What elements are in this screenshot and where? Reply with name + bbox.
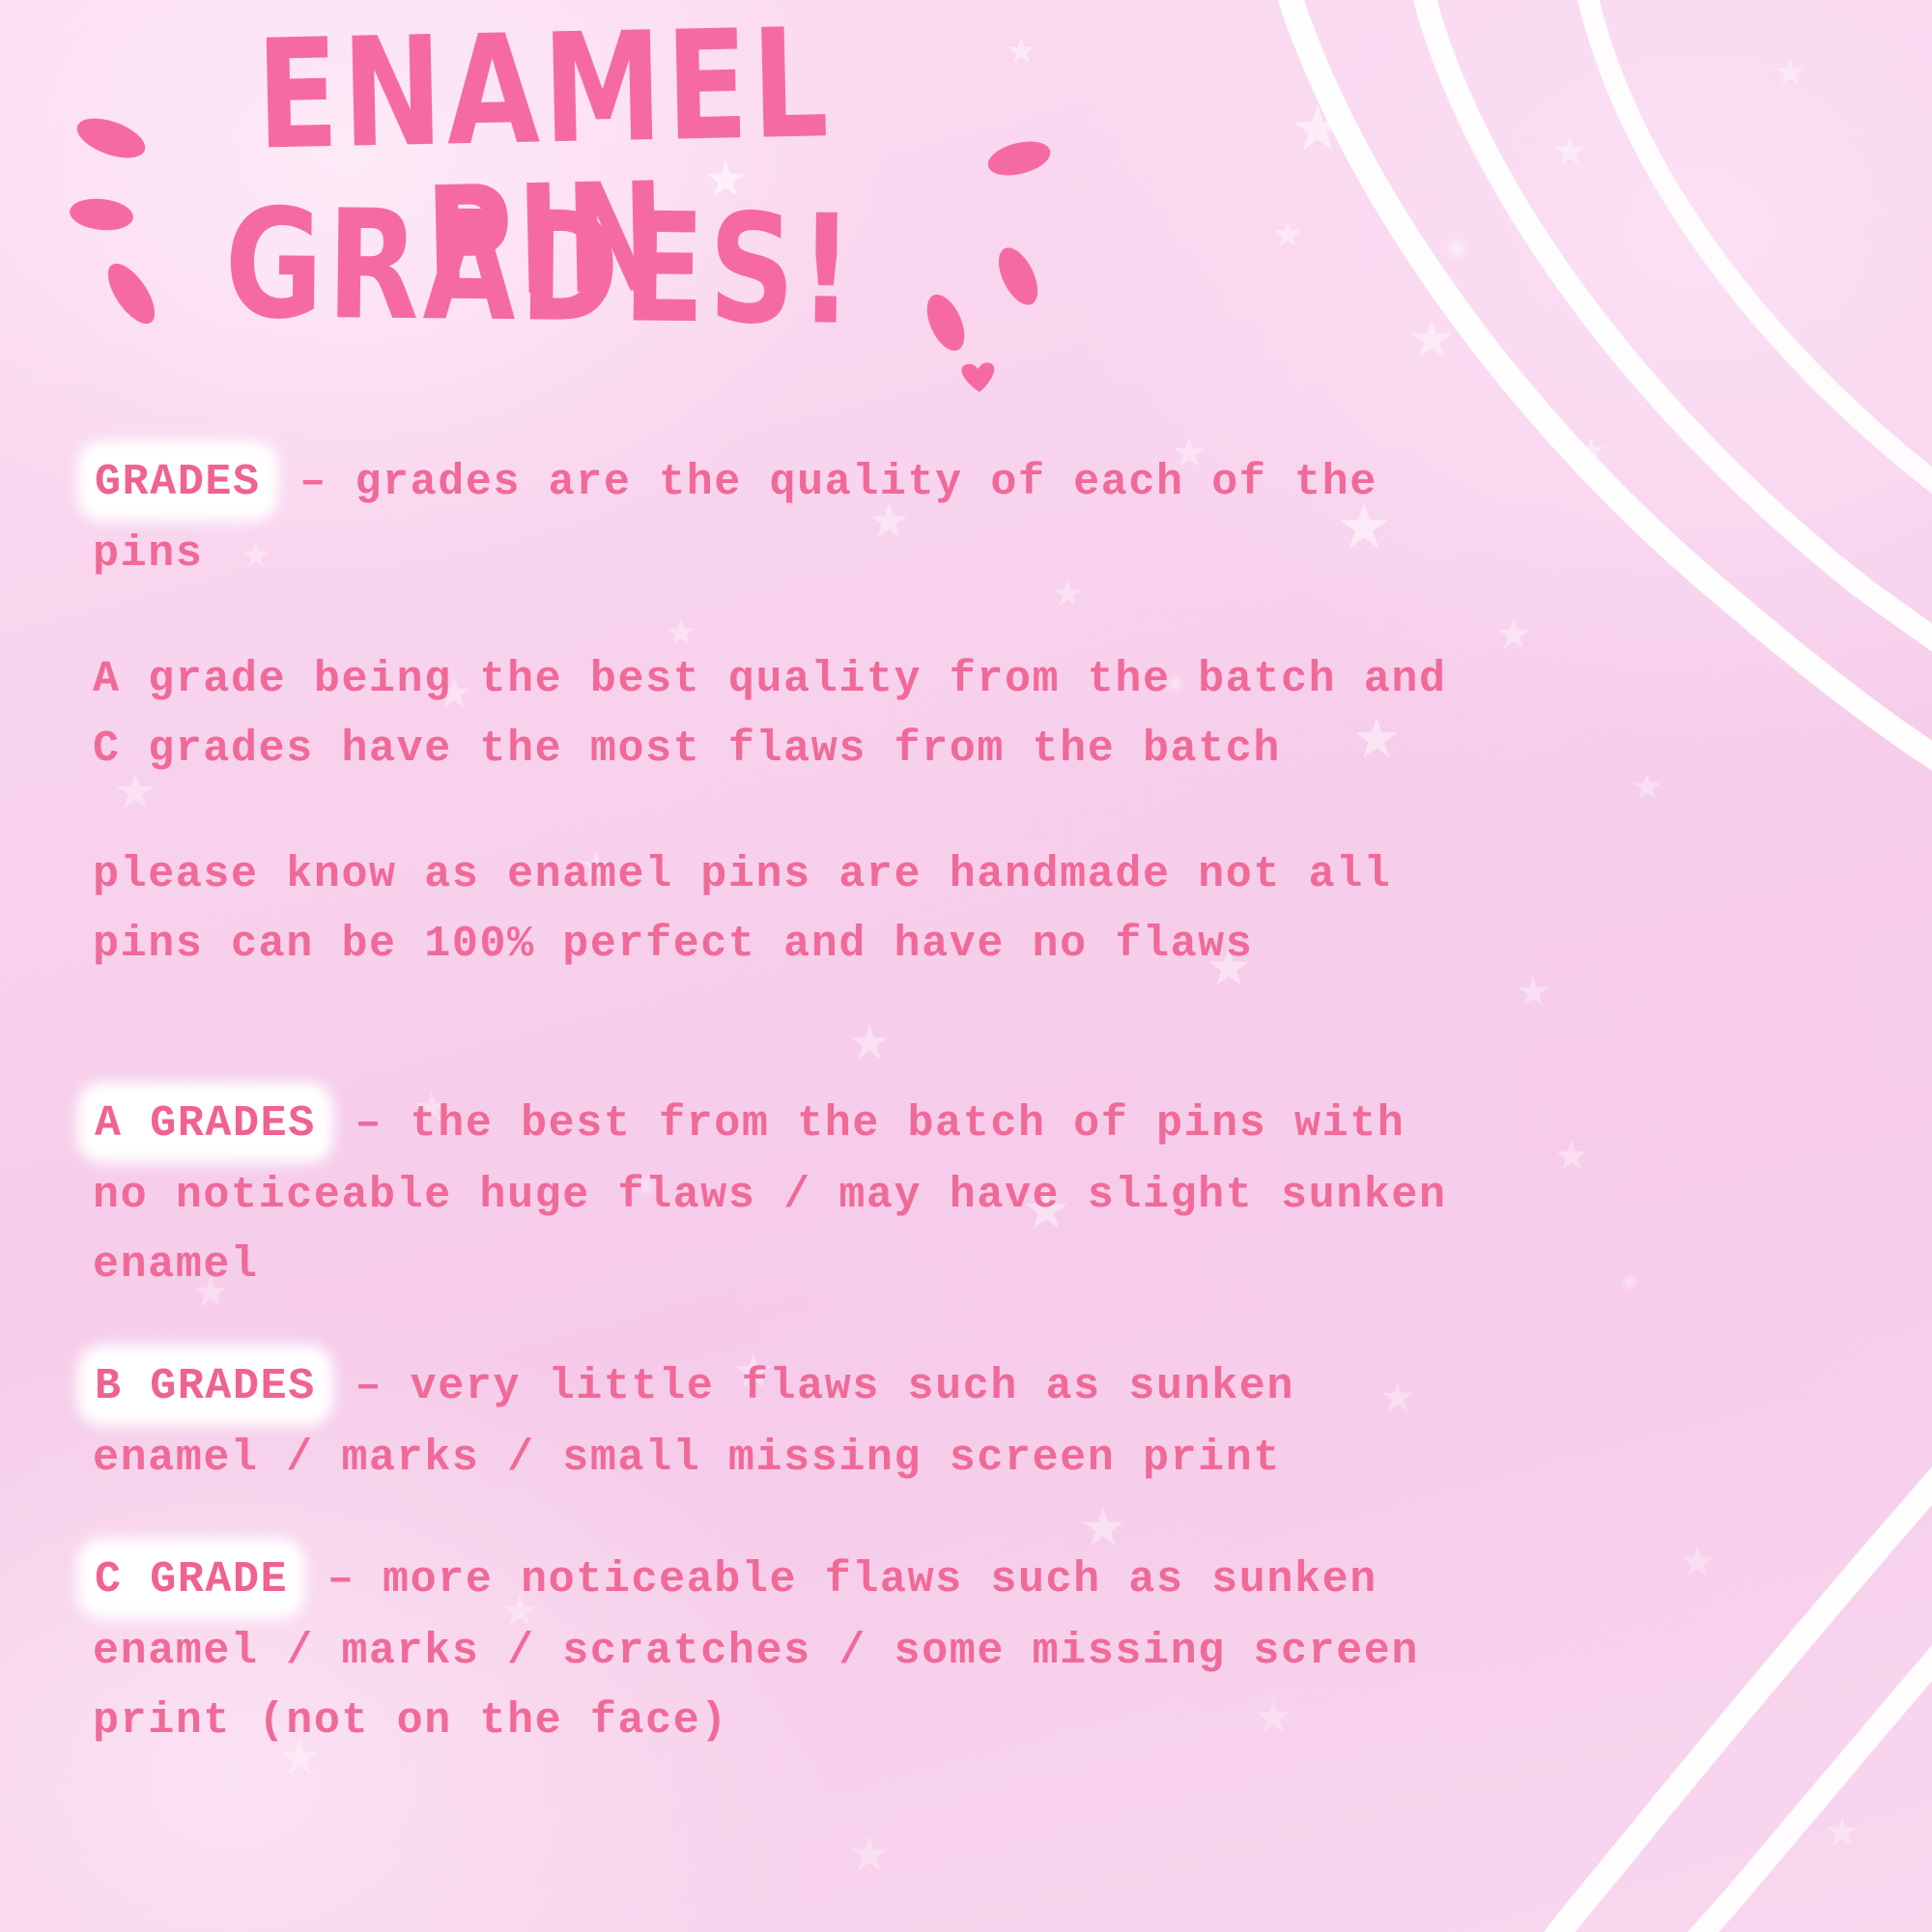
spacer xyxy=(93,589,1861,645)
paragraph-c-grade: C GRADE – more noticeable flaws such as … xyxy=(93,1544,1861,1756)
background-star-icon xyxy=(1273,220,1302,249)
background-sparkle-dot-icon xyxy=(1449,241,1464,257)
sparkle-dash-decoration xyxy=(991,241,1046,311)
paragraph-b-grades: B GRADES – very little flaws such as sun… xyxy=(93,1350,1861,1493)
poster-canvas: ENAMEL PIN GRADES! GRADES – grades are t… xyxy=(0,0,1932,1932)
label-a-grades: A GRADES xyxy=(83,1088,327,1161)
spacer xyxy=(93,1493,1861,1544)
heart-icon xyxy=(961,362,996,393)
background-star-icon xyxy=(1553,135,1586,168)
background-star-icon xyxy=(850,1835,889,1874)
sparkle-dash-decoration xyxy=(99,256,164,331)
spacer xyxy=(93,784,1861,840)
paragraph-grades-intro: GRADES – grades are the quality of each … xyxy=(93,446,1861,589)
background-star-icon xyxy=(1776,58,1804,87)
poster-body-block: GRADES – grades are the quality of each … xyxy=(93,446,1861,1756)
label-b-grades: B GRADES xyxy=(83,1350,327,1424)
sparkle-dash-decoration xyxy=(69,196,135,234)
sparkle-dash-decoration xyxy=(71,110,150,165)
page-title-line-2: GRADES! xyxy=(213,189,870,347)
spacer xyxy=(93,1300,1861,1350)
spacer xyxy=(93,980,1861,1088)
poster-title-block: ENAMEL PIN GRADES! xyxy=(0,17,1082,355)
background-star-icon xyxy=(1410,319,1453,361)
sparkle-dash-decoration xyxy=(984,135,1054,181)
paragraph-grades-intro-text: – grades are the quality of each of the … xyxy=(93,458,1378,579)
paragraph-a-vs-c: A grade being the best quality from the … xyxy=(93,645,1861,784)
paragraph-a-grades: A GRADES – the best from the batch of pi… xyxy=(93,1088,1861,1300)
label-c-grade: C GRADE xyxy=(83,1544,299,1617)
background-star-icon xyxy=(1293,104,1343,155)
paragraph-handmade-notice: please know as enamel pins are handmade … xyxy=(93,840,1861,980)
background-star-icon xyxy=(1826,1816,1859,1849)
label-grades: GRADES xyxy=(83,446,272,520)
